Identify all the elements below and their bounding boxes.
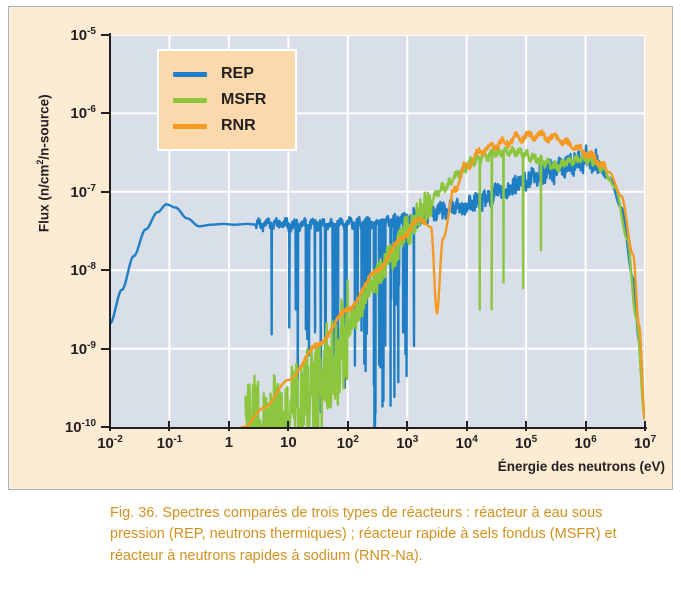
y-tick-label: 10‑9 bbox=[70, 341, 96, 357]
y-tick-label: 10‑6 bbox=[70, 105, 96, 121]
legend-swatch-msfr bbox=[173, 98, 207, 103]
legend-item-rep: REP bbox=[159, 61, 295, 87]
x-tick bbox=[644, 421, 646, 431]
x-axis-line bbox=[109, 427, 647, 429]
x-tick bbox=[585, 421, 587, 431]
x-tick bbox=[466, 421, 468, 431]
legend-label-rep: REP bbox=[221, 66, 254, 82]
legend-label-rnr: RNR bbox=[221, 118, 256, 134]
y-tick bbox=[101, 191, 111, 193]
y-tick bbox=[101, 348, 111, 350]
y-axis-line bbox=[109, 33, 111, 429]
figure-caption: Fig. 36. Spectres comparés de trois type… bbox=[110, 503, 655, 567]
x-tick bbox=[406, 421, 408, 431]
x-tick bbox=[525, 421, 527, 431]
y-tick bbox=[101, 269, 111, 271]
y-axis-title: Flux (n/cm2/n-source) bbox=[35, 83, 52, 243]
chart-legend: REP MSFR RNR bbox=[157, 49, 297, 151]
legend-item-msfr: MSFR bbox=[159, 87, 295, 113]
x-tick bbox=[347, 421, 349, 431]
legend-swatch-rep bbox=[173, 72, 207, 77]
y-tick-label: 10‑10 bbox=[65, 419, 96, 435]
x-axis-title: Énergie des neutrons (eV) bbox=[405, 459, 665, 474]
legend-swatch-rnr bbox=[173, 124, 207, 129]
y-tick bbox=[101, 34, 111, 36]
y-tick-label: 10‑8 bbox=[70, 262, 96, 278]
x-tick bbox=[109, 421, 111, 431]
x-tick-label: 107 bbox=[605, 435, 681, 451]
y-tick bbox=[101, 112, 111, 114]
legend-label-msfr: MSFR bbox=[221, 92, 266, 108]
x-tick bbox=[168, 421, 170, 431]
legend-item-rnr: RNR bbox=[159, 113, 295, 139]
x-tick bbox=[228, 421, 230, 431]
y-tick-label: 10‑7 bbox=[70, 184, 96, 200]
y-tick-label: 10‑5 bbox=[70, 27, 96, 43]
chart-panel: 10‑510‑610‑710‑810‑910‑10 10‑210‑1110102… bbox=[8, 6, 673, 490]
figure-container: 10‑510‑610‑710‑810‑910‑10 10‑210‑1110102… bbox=[0, 0, 681, 613]
x-tick bbox=[287, 421, 289, 431]
